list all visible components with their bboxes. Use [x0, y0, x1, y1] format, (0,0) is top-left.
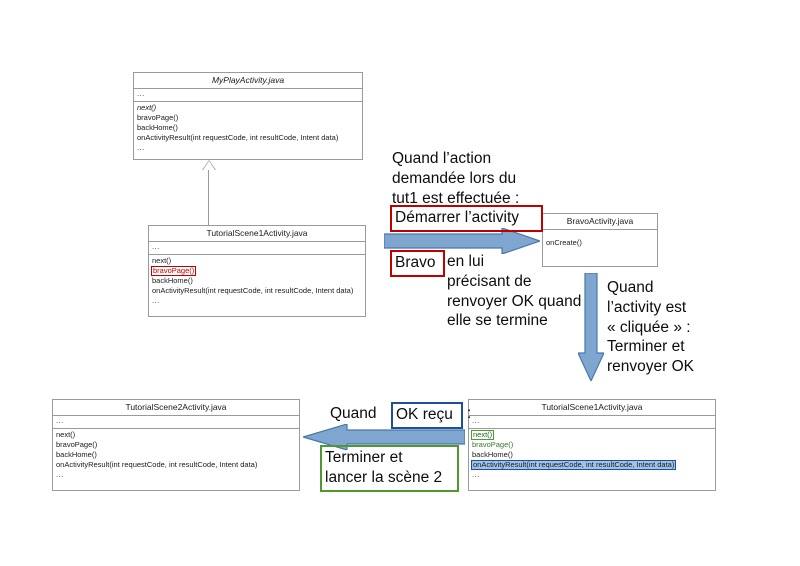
operation-ellipsis: ...	[56, 470, 296, 480]
class-operations-tutorialscene1-top: next() bravoPage() backHome() onActivity…	[149, 255, 365, 308]
operation-onactivityresult: onActivityResult(int requestCode, int re…	[56, 460, 296, 470]
class-attributes-tutorialscene2: ...	[53, 416, 299, 429]
class-operations-tutorialscene1-bottom: next() bravoPage() backHome() onActivity…	[469, 429, 715, 482]
operation-next: next()	[152, 256, 362, 266]
operation-onactivityresult: onActivityResult(int requestCode, int re…	[137, 133, 359, 143]
note-ok-received-prefix: Quand	[330, 404, 377, 424]
class-operations-myplayactivity: next() bravoPage() backHome() onActivity…	[134, 102, 362, 155]
class-box-myplayactivity[interactable]: MyPlayActivity.java ... next() bravoPage…	[133, 72, 363, 160]
class-box-tutorialscene1-bottom[interactable]: TutorialScene1Activity.java ... next() b…	[468, 399, 716, 491]
note-click-finish: Quand l’activity est « cliquée » : Termi…	[607, 278, 737, 377]
class-attributes-myplayactivity: ...	[134, 89, 362, 102]
callout-terminer-lancer-scene2[interactable]: Terminer et lancer la scène 2	[320, 445, 459, 492]
operation-next: next()	[56, 430, 296, 440]
operation-ellipsis: ...	[137, 143, 359, 153]
operation-bravopage: bravoPage()	[472, 440, 712, 450]
generalization-triangle-fill	[203, 161, 215, 170]
operation-backhome: backHome()	[472, 450, 712, 460]
operation-bravopage: bravoPage()	[56, 440, 296, 450]
class-operations-bravoactivity: onCreate()	[543, 230, 657, 251]
class-title-tutorialscene1-bottom: TutorialScene1Activity.java	[469, 400, 715, 416]
operation-next-highlighted[interactable]: next()	[471, 430, 494, 440]
operation-onactivityresult: onActivityResult(int requestCode, int re…	[152, 286, 362, 296]
note-start-bravo-tail: en lui précisant de renvoyer OK quand el…	[447, 252, 587, 331]
callout-bravo[interactable]: Bravo	[390, 250, 445, 277]
callout-ok-recu[interactable]: OK reçu	[391, 402, 463, 429]
class-box-tutorialscene1-top[interactable]: TutorialScene1Activity.java ... next() b…	[148, 225, 366, 317]
generalization-line	[208, 170, 209, 225]
operation-ellipsis: ...	[472, 470, 712, 480]
class-title-bravoactivity: BravoActivity.java	[543, 214, 657, 230]
diagram-canvas: MyPlayActivity.java ... next() bravoPage…	[0, 0, 800, 566]
operation-next: next()	[137, 103, 359, 113]
operation-bravopage-highlighted[interactable]: bravoPage()	[151, 266, 196, 276]
class-title-myplayactivity: MyPlayActivity.java	[134, 73, 362, 89]
class-attributes-tutorialscene1-bottom: ...	[469, 416, 715, 429]
operation-oncreate: onCreate()	[546, 238, 654, 248]
operation-onactivityresult-highlighted[interactable]: onActivityResult(int requestCode, int re…	[471, 460, 676, 470]
class-attributes-tutorialscene1-top: ...	[149, 242, 365, 255]
class-title-tutorialscene2: TutorialScene2Activity.java	[53, 400, 299, 416]
operation-ellipsis: ...	[152, 296, 362, 306]
callout-demarrer-activity[interactable]: Démarrer l’activity	[390, 205, 543, 232]
note-start-bravo-intro: Quand l’action demandée lors du tut1 est…	[392, 149, 582, 208]
operation-bravopage: bravoPage()	[137, 113, 359, 123]
operation-backhome: backHome()	[152, 276, 362, 286]
class-title-tutorialscene1-top: TutorialScene1Activity.java	[149, 226, 365, 242]
class-operations-tutorialscene2: next() bravoPage() backHome() onActivity…	[53, 429, 299, 482]
class-box-tutorialscene2[interactable]: TutorialScene2Activity.java ... next() b…	[52, 399, 300, 491]
operation-backhome: backHome()	[137, 123, 359, 133]
note-ok-received-suffix: :	[467, 404, 471, 424]
operation-backhome: backHome()	[56, 450, 296, 460]
